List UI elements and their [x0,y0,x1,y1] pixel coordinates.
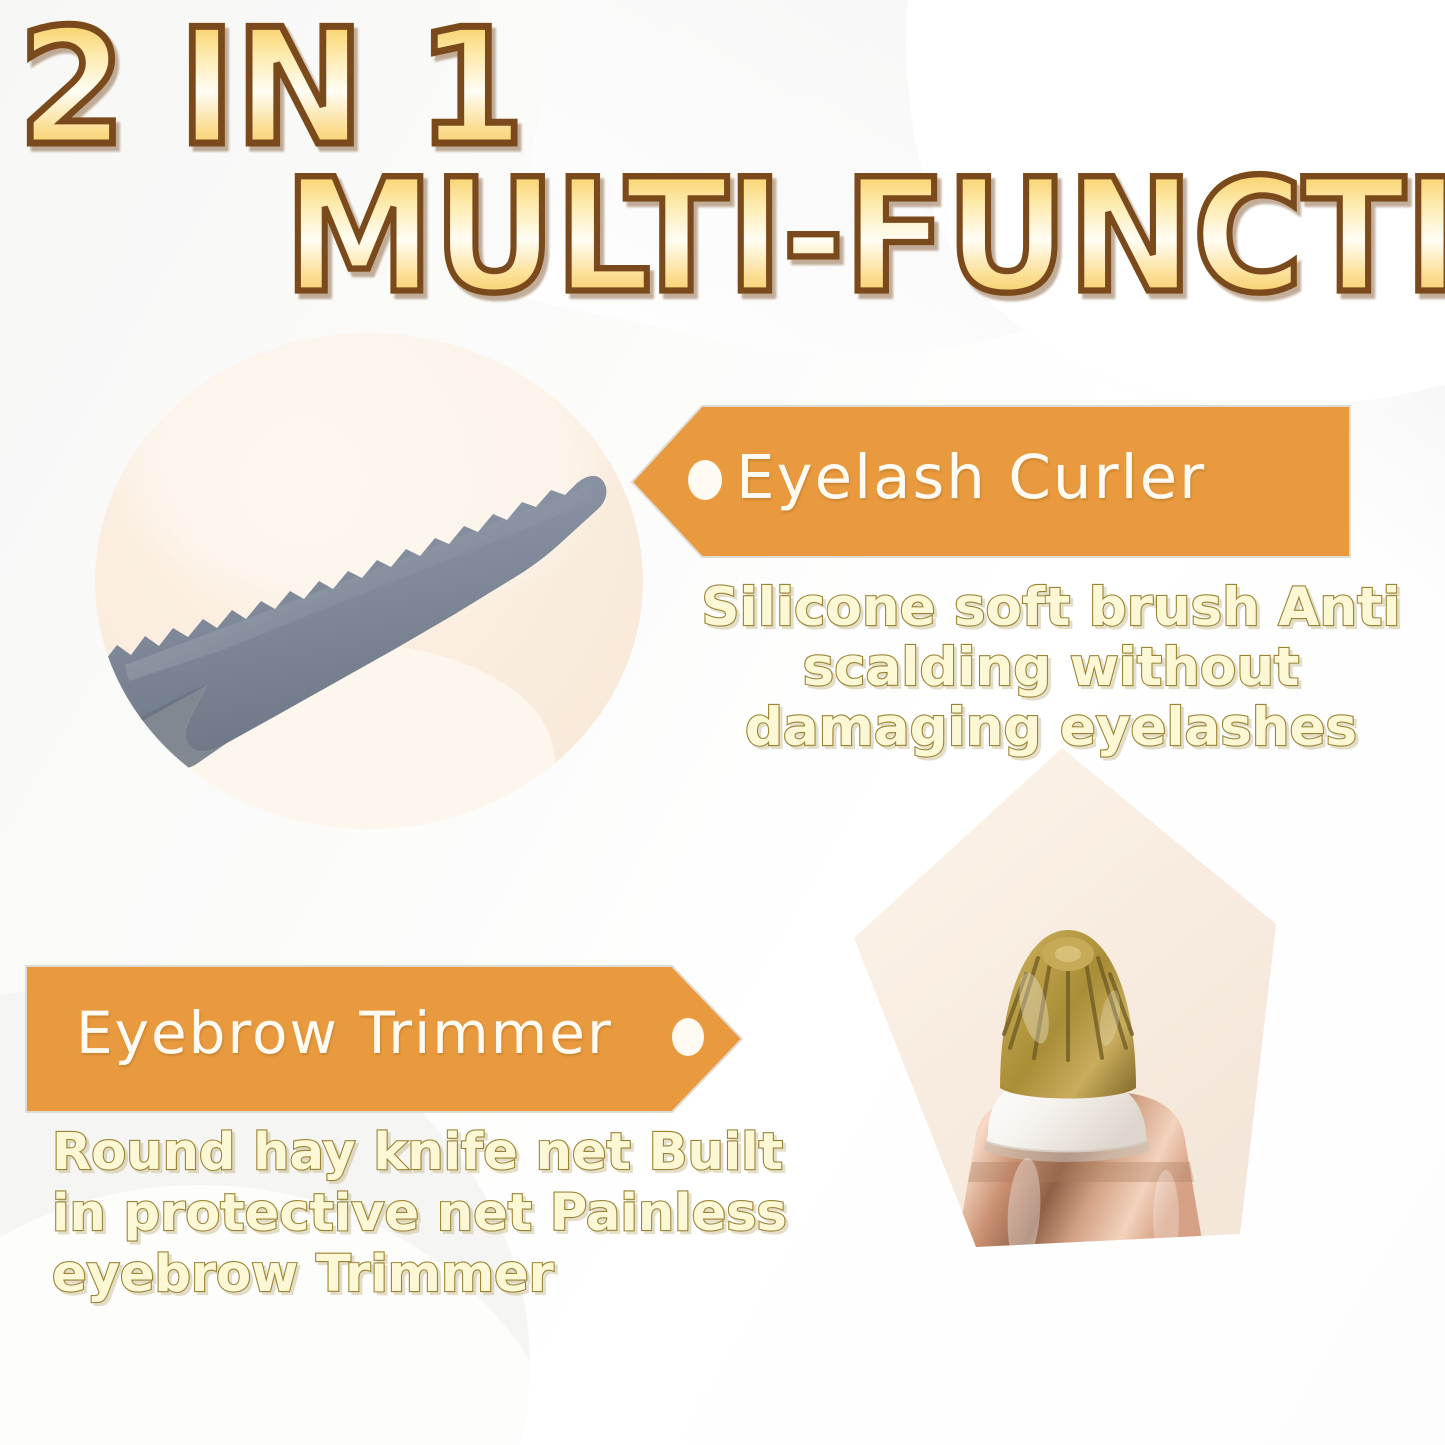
eyebrow-trimmer-photo [848,742,1280,1252]
eyebrow-trimmer-banner: Eyebrow Trimmer [24,964,744,1114]
eyebrow-trimmer-banner-label: Eyebrow Trimmer [76,984,613,1082]
product-feature-poster: 2 IN 1 MULTI-FUNCTION [0,0,1445,1445]
banner-bullet-dot [672,1018,704,1056]
eyelash-curler-banner-label: Eyelash Curler [736,430,1206,526]
banner-bullet-dot [688,460,722,500]
eyelash-curler-banner: Eyelash Curler [630,404,1352,559]
headline-line-2: MULTI-FUNCTION [284,158,1445,315]
headline-line-1: 2 IN 1 [18,8,524,168]
silicone-comb-icon [95,333,643,829]
eyebrow-trimmer-caption: Round hay knife net Built in protective … [52,1122,812,1305]
trimmer-head-icon [848,742,1280,1252]
eyelash-curler-photo [95,333,643,829]
eyelash-curler-caption: Silicone soft brush Anti scalding withou… [660,578,1442,758]
